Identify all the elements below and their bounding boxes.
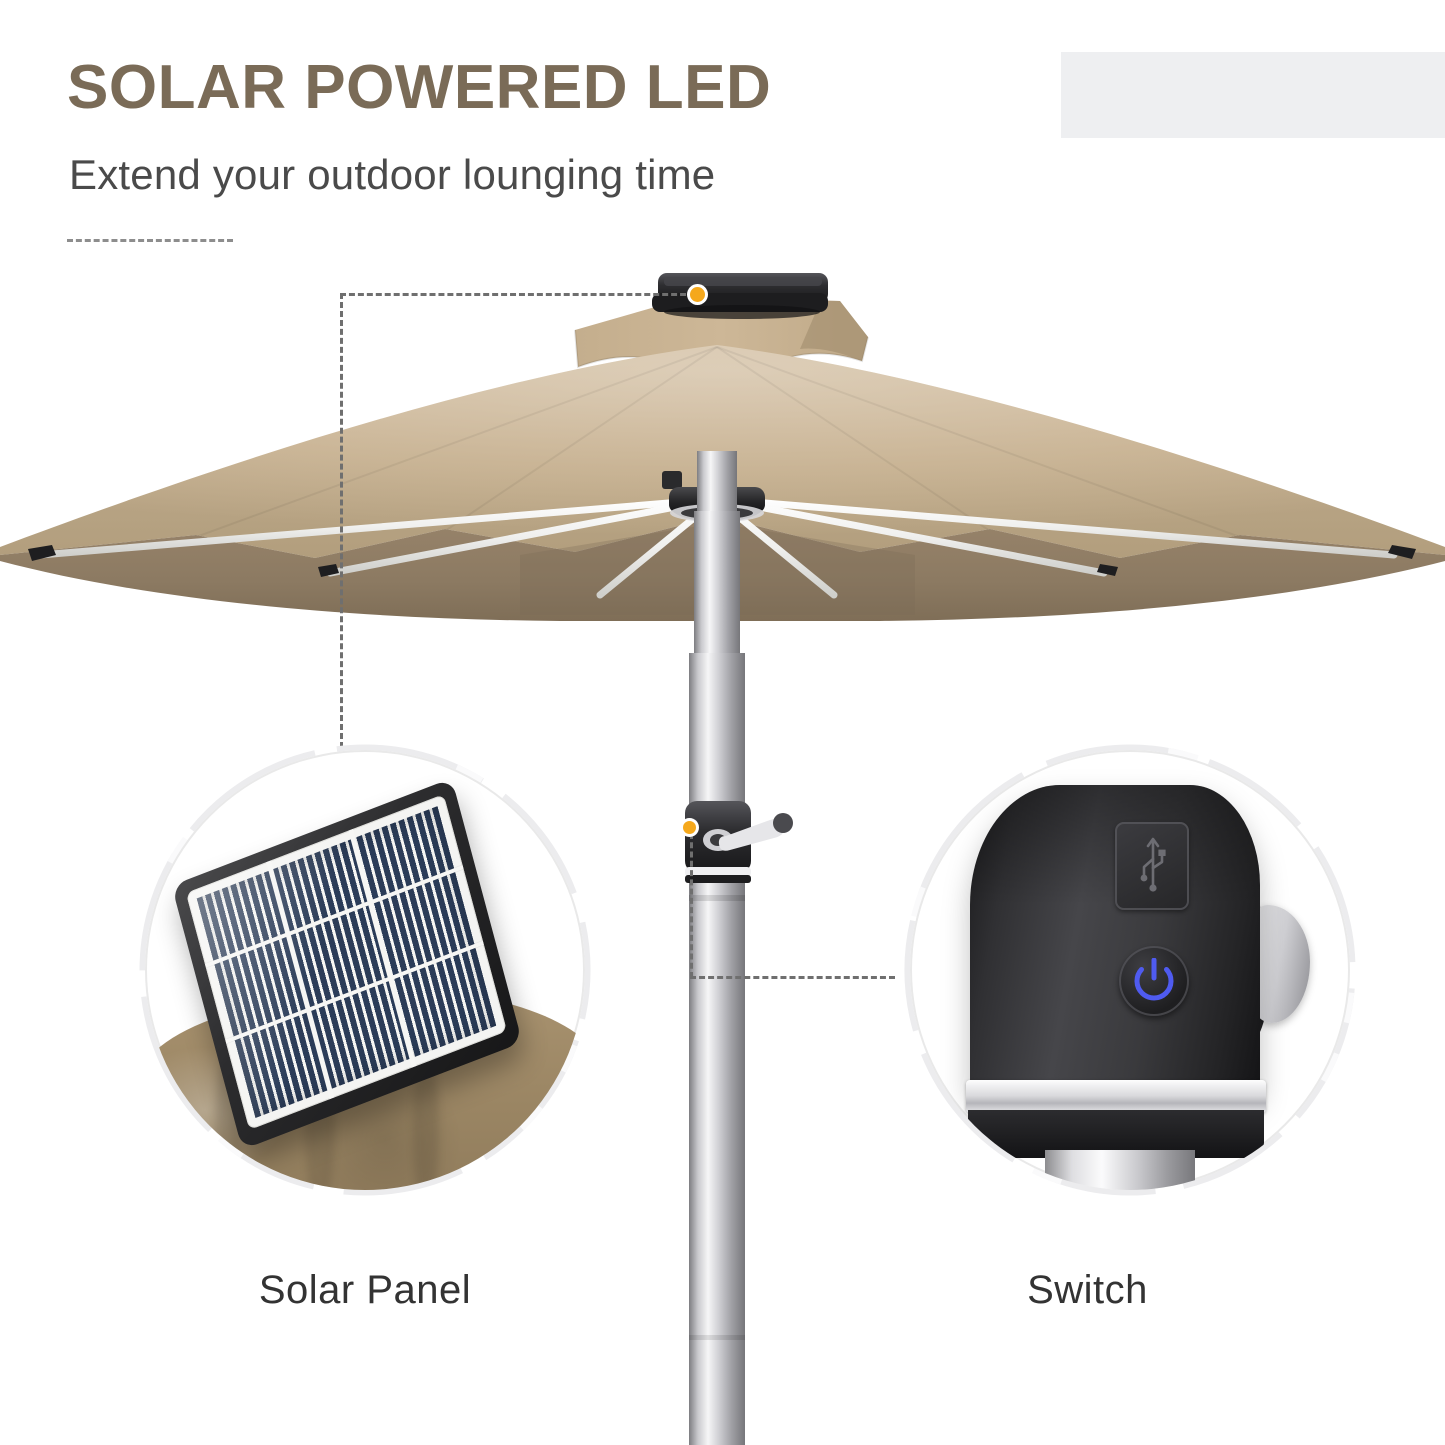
infographic-canvas: SOLAR POWERED LED Extend your outdoor lo…	[0, 0, 1445, 1445]
detail-solar-image	[145, 750, 585, 1190]
detail-circle-solar-panel	[115, 720, 615, 1220]
callout-dot-switch	[683, 821, 696, 834]
page-title: SOLAR POWERED LED	[67, 56, 771, 119]
callout-dot-solar	[690, 287, 705, 302]
switch-pole-section	[1045, 1150, 1195, 1190]
page-subtitle: Extend your outdoor lounging time	[69, 152, 715, 198]
leader-line-switch-vertical	[690, 833, 693, 978]
pole-switch-housing	[685, 801, 793, 883]
power-icon	[1132, 958, 1176, 1004]
header-divider	[67, 239, 233, 242]
caption-solar-panel: Solar Panel	[0, 1268, 730, 1313]
canopy-solar-unit	[652, 273, 828, 319]
leader-line-solar-vertical	[340, 293, 343, 748]
detail-switch-image	[910, 750, 1350, 1190]
caption-switch: Switch	[730, 1268, 1445, 1313]
leader-line-switch-horizontal	[690, 976, 895, 979]
canopy-clip	[662, 471, 682, 489]
usb-icon	[1137, 835, 1169, 897]
detail-circle-switch	[880, 720, 1380, 1220]
leader-line-solar-horizontal	[340, 293, 695, 296]
header-accent-plate	[1061, 52, 1445, 138]
switch-silver-band	[966, 1080, 1266, 1113]
